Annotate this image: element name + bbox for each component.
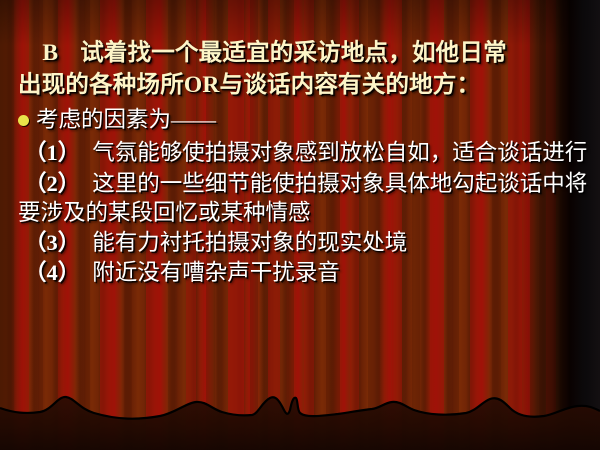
list-item-text: 能有力衬托拍摄对象的现实处境: [92, 230, 407, 255]
list-item-number: （1）: [24, 140, 80, 165]
list-item: （1）气氛能够使拍摄对象感到放松自如，适合谈话进行: [18, 138, 590, 167]
list-item: （2）这里的一些细节能使拍摄对象具体地勾起谈话中将要涉及的某段回忆或某种情感: [18, 169, 590, 228]
title-marker: B: [42, 40, 58, 66]
bullet-label: 考虑的因素为——: [36, 105, 216, 134]
curtain-hem: [0, 380, 600, 450]
presentation-slide: B试着找一个最适宜的采访地点，如他日常出现的各种场所OR与谈话内容有关的地方： …: [0, 0, 600, 450]
list-item-text: 附近没有嘈杂声干扰录音: [92, 260, 340, 285]
list-item-text: 气氛能够使拍摄对象感到放松自如，适合谈话进行: [92, 140, 587, 165]
list-item-text: 这里的一些细节能使拍摄对象具体地勾起谈话中将要涉及的某段回忆或某种情感: [18, 171, 587, 225]
slide-body: 考虑的因素为—— （1）气氛能够使拍摄对象感到放松自如，适合谈话进行 （2）这里…: [18, 105, 590, 289]
list-item-number: （2）: [24, 171, 80, 196]
hem-shape: [0, 397, 600, 450]
title-line-1: 试着找一个最适宜的采访地点，如他日常: [80, 40, 507, 66]
list-item-number: （3）: [24, 230, 80, 255]
bullet-line: 考虑的因素为——: [18, 105, 590, 134]
list-item: （3）能有力衬托拍摄对象的现实处境: [18, 228, 590, 257]
bullet-dot-icon: [18, 115, 29, 126]
list-item-number: （4）: [24, 260, 80, 285]
list-item: （4）附近没有嘈杂声干扰录音: [18, 258, 590, 287]
title-line-2: 出现的各种场所OR与谈话内容有关的地方：: [18, 72, 480, 98]
